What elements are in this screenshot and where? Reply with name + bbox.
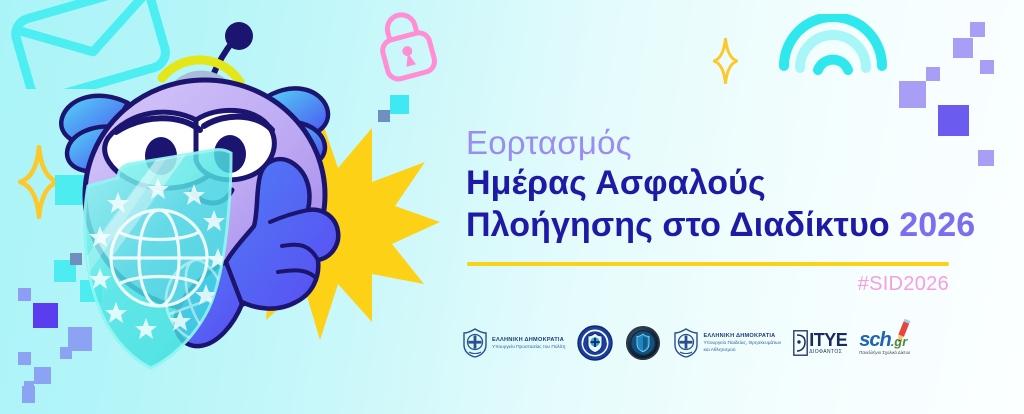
logo-subtitle-line-2: και Αθλητισμού [703,347,781,354]
logo-subtitle: Υπουργείο Προστασίας του Πολίτη [492,344,565,351]
headline-eyebrow: Εορτασμός [466,124,966,162]
logo-text: sch .gr Πανελλήνιο Σχολικό Δίκτυο [859,330,910,356]
logo-sch-gr[interactable]: sch .gr Πανελλήνιο Σχολικό Δίκτυο [859,321,910,365]
decor-square [980,60,994,74]
greek-coat-of-arms-icon [673,328,699,358]
logo-title: ΕΛΛΗΝΙΚΗ ΔΗΜΟΚΡΑΤΙΑ [703,332,781,340]
decor-square [970,22,985,37]
campaign-banner: Εορτασμός Ημέρας Ασφαλούς Πλοήγησης στο … [0,0,1024,414]
pencil-icon [892,318,914,344]
logo-hellenic-police[interactable] [577,321,613,365]
headline-year: 2026 [899,206,975,244]
decor-square [978,150,994,166]
logo-subtitle-line-1: Υπουργείο Παιδείας, Θρησκευμάτων [703,340,781,347]
headline-block: Εορτασμός Ημέρας Ασφαλούς Πλοήγησης στο … [466,124,966,246]
decor-square [24,381,34,403]
cyber-crime-badge-icon [625,325,661,361]
hashtag-wrap: #SID2026 [467,273,949,299]
logo-itye-diophantus[interactable]: ITYE ΔΙΟΦΑΝΤΟΣ [793,321,847,365]
headline-line-3-wrap: Πλοήγησης στο Διαδίκτυο 2026 [466,204,966,246]
logo-hellenic-republic-education[interactable]: ΕΛΛΗΝΙΚΗ ΔΗΜΟΚΡΑΤΙΑ Υπουργείο Παιδείας, … [673,321,781,365]
itye-monogram-icon [793,330,808,356]
sparkle-icon [713,38,738,84]
partner-logo-strip: ΕΛΛΗΝΙΚΗ ΔΗΜΟΚΡΑΤΙΑ Υπουργείο Προστασίας… [462,318,1010,368]
logo-cyber-crime-division[interactable] [625,321,661,365]
logo-title: ΕΛΛΗΝΙΚΗ ΔΗΜΟΚΡΑΤΙΑ [492,336,565,344]
logo-text: ΕΛΛΗΝΙΚΗ ΔΗΜΟΚΡΑΤΙΑ Υπουργείο Προστασίας… [492,336,565,351]
logo-text: ΕΛΛΗΝΙΚΗ ΔΗΜΟΚΡΑΤΙΑ Υπουργείο Παιδείας, … [703,332,781,354]
sch-wordmark: sch [859,330,890,350]
headline-line-2: Ημέρας Ασφαλούς [466,162,966,204]
hellenic-police-badge-icon [577,325,613,361]
decor-square [926,67,940,81]
greek-coat-of-arms-icon [462,328,488,358]
campaign-hashtag: #SID2026 [467,273,949,296]
headline-line-3: Πλοήγησης στο Διαδίκτυο [466,206,890,244]
logo-hellenic-republic-citizen-protection[interactable]: ΕΛΛΗΝΙΚΗ ΔΗΜΟΚΡΑΤΙΑ Υπουργείο Προστασίας… [462,321,565,365]
itye-subtitle: ΔΙΟΦΑΝΤΟΣ [809,349,847,356]
decor-square [899,81,926,108]
itye-title: ITYE [809,331,847,349]
wifi-icon [778,14,888,76]
robot-mascot [20,10,440,380]
logo-text: ITYE ΔΙΟΦΑΝΤΟΣ [809,331,847,356]
headline-divider-rule [467,262,949,266]
decor-square [953,38,973,58]
